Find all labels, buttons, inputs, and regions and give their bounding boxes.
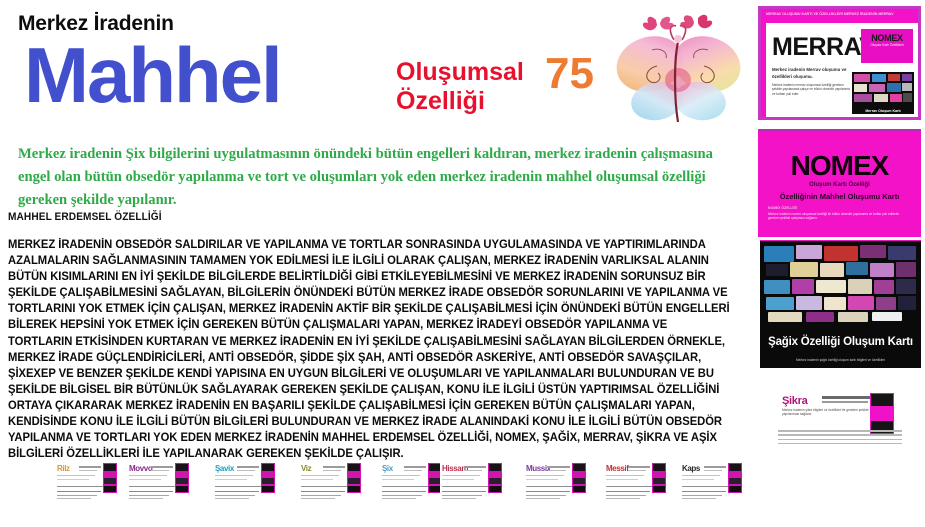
thumbnail-strip: Rilz Movvo Şavix Viz Şix [0,456,760,522]
merrav-thumbnail-grid: Merrav Oluşum Kartı [852,72,914,114]
merrav-nomex-chip-sub: Oluşum Kartı Özellikleri [861,43,913,48]
thumbnail-label: Rilz [57,464,70,473]
thumbnail-chip [261,463,275,493]
thumbnail-label: Messif [606,464,629,473]
thumbnail-chip [728,463,742,493]
merrav-inner-panel: MERRAV Merkez iradenin Merrav oluşumu ve… [766,23,918,118]
thumbnail-chip [652,463,666,493]
card-sagix[interactable]: Şağix Özelliği Oluşum Kartı Merkez irade… [760,240,921,368]
merrav-nomex-chip: NOMEX Oluşum Kartı Özellikleri [861,29,913,63]
nomex-subtitle-2: Özelliğinin Mahhel Oluşumu Kartı [758,192,921,201]
sagix-top-band [760,240,921,241]
right-rail: MERRAV OLUŞUMU KARTI VE ÖZELLİKLERİ MERK… [756,0,925,527]
title-qualifier-line1: Oluşumsal [396,58,524,86]
butterfly-icon [612,6,744,130]
thumbnail-chip [572,463,586,493]
list-item[interactable]: Hissam [440,460,502,506]
thumbnail-chip [488,463,502,493]
thumbnail-label: Şix [382,464,393,473]
list-item[interactable]: Messif [604,460,666,506]
thumbnail-label: Kaps [682,464,700,473]
title-qualifier-line2: Özelliği [396,87,485,115]
sikra-footer-rules [778,430,902,447]
card-nomex[interactable]: NOMEX Oluşum Kartı Özelliği Özelliğinin … [758,129,921,237]
sikra-side-chip [870,393,894,435]
merrav-header-text: MERRAV OLUŞUMU KARTI VE ÖZELLİKLERİ MERK… [766,12,914,17]
merrav-subtitle: Merkez iradenin Merrav oluşumu ve özelli… [772,67,860,80]
card-sikra[interactable]: Şikra Merkez iradenin şikra bilgileri ve… [766,385,916,457]
sikra-title: Şikra [782,395,807,407]
body-paragraph: MERKEZ İRADENİN OBSEDÖR SALDIRILAR VE YA… [8,237,731,462]
thumbnail-chip [347,463,361,493]
list-item[interactable]: Movvo [127,460,189,506]
thumbnail-chip [103,463,117,493]
list-item[interactable]: Kaps [680,460,742,506]
sagix-tile-collage [760,242,921,324]
section-subtitle: MAHHEL ERDEMSEL ÖZELLİĞİ [8,211,162,223]
list-item[interactable]: Şavix [213,460,275,506]
card-merrav[interactable]: MERRAV OLUŞUMU KARTI VE ÖZELLİKLERİ MERK… [758,6,921,120]
nomex-subtitle-1: Oluşum Kartı Özelliği [758,182,921,188]
list-item[interactable]: Mussix [524,460,586,506]
thumbnail-label: Movvo [129,464,152,473]
sikra-body-text: Merkez iradenin şikra bilgileri ve özell… [782,408,878,417]
page-number-badge: 75 [545,52,594,96]
nomex-label: NOMEX ÖZELLİĞİ [768,206,797,210]
merrav-body-text: Merkez iradenin merrav oluşumsal özelliğ… [772,83,854,96]
sikra-headline-rule-2 [822,401,868,403]
title-qualifier: Oluşumsal Özelliği [396,58,524,116]
thumbnail-label: Viz [301,464,311,473]
list-item[interactable]: Şix [380,460,442,506]
sagix-caption: Şağix Özelliği Oluşum Kartı [760,336,921,348]
merrav-grid-caption: Merrav Oluşum Kartı [852,109,914,113]
nomex-title: NOMEX [758,152,921,180]
nomex-body-text: Merkez iradenin nomex oluşumsal özelliği… [768,212,911,221]
list-item[interactable]: Rilz [55,460,117,506]
merrav-title: MERRAV [772,35,875,60]
intro-paragraph: Merkez iradenin Şix bilgilerini uygulatm… [18,143,718,212]
list-item[interactable]: Viz [299,460,361,506]
page-title: Mahhel [24,36,281,114]
merrav-nomex-chip-title: NOMEX [861,33,913,43]
thumbnail-chip [175,463,189,493]
thumbnail-label: Şavix [215,464,234,473]
poster-page: Merkez İradenin Mahhel Oluşumsal Özelliğ… [0,0,925,527]
sagix-footer-text: Merkez iradenin şağix özelliği oluşum ka… [766,358,915,362]
